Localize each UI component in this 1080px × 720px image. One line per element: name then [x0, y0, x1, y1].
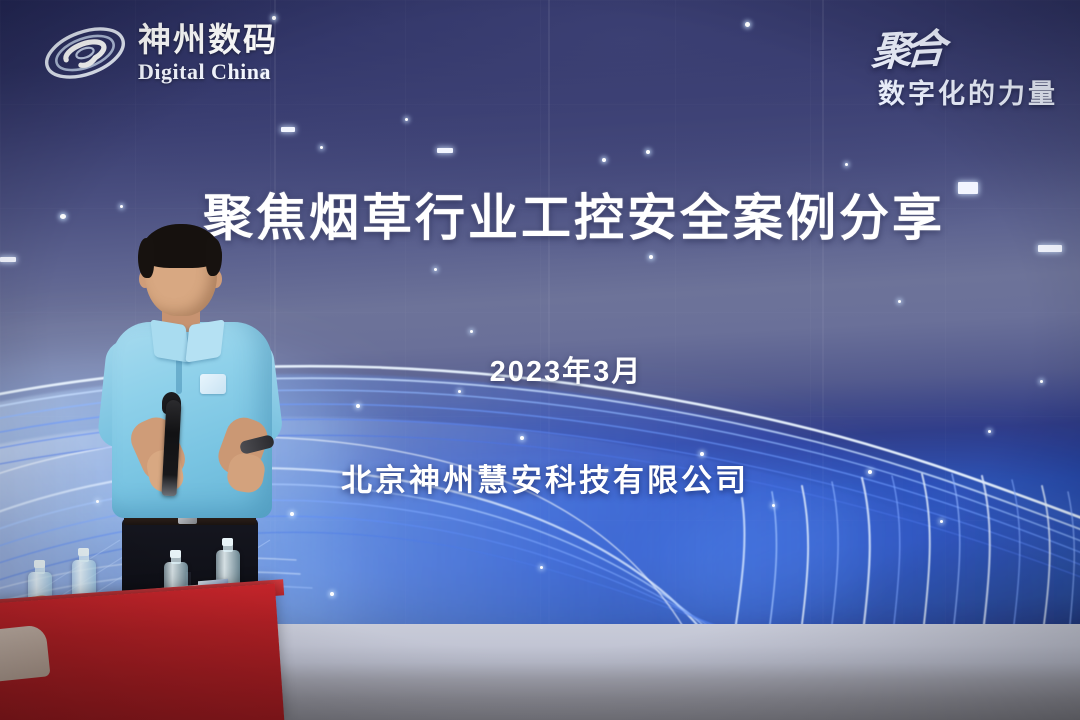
- bottle-cap: [78, 548, 89, 556]
- brand-name-cn: 神州数码: [138, 23, 278, 56]
- speaker-chest-logo-patch: [200, 374, 226, 394]
- bottle-cap: [170, 550, 181, 558]
- bottle-cap: [34, 560, 45, 568]
- galaxy-swirl-icon: [42, 16, 128, 90]
- attendee-shoulder: [0, 624, 51, 683]
- slogan-subtitle: 数字化的力量: [872, 72, 1058, 111]
- slogan-calligraphy: 聚合: [870, 16, 942, 77]
- event-slogan: 聚合 数字化的力量: [872, 18, 1058, 111]
- brand-name-en: Digital China: [138, 61, 278, 83]
- stage-photo: 神州数码 Digital China 聚合 数字化的力量 聚焦烟草行业工控安全案…: [0, 0, 1080, 720]
- speaker-hair-side-right: [206, 238, 222, 276]
- bottle-cap: [222, 538, 233, 546]
- speaker-figure: [96, 222, 286, 628]
- light-dash: [0, 257, 16, 262]
- light-dash: [437, 148, 453, 153]
- brand-logo: 神州数码 Digital China: [42, 16, 278, 90]
- speaker-collar-right: [185, 319, 224, 362]
- speaker-hair-side-left: [138, 238, 154, 278]
- light-dash: [281, 127, 295, 132]
- brand-text: 神州数码 Digital China: [138, 23, 278, 83]
- speaker-collar-left: [150, 319, 189, 362]
